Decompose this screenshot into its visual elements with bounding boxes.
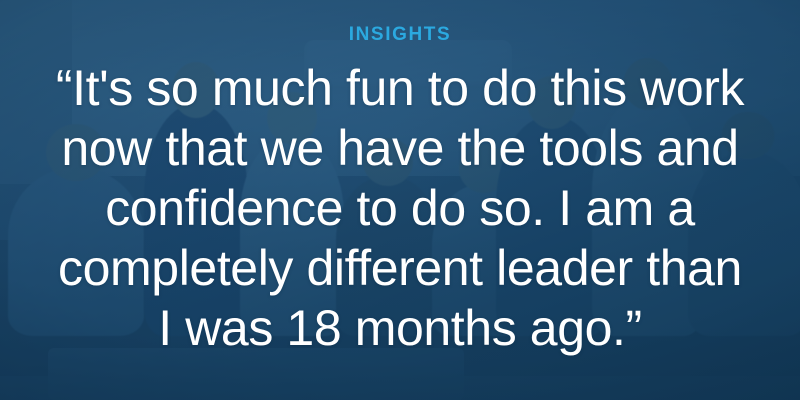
insights-quote-card: INSIGHTS “It's so much fun to do this wo… (0, 0, 800, 400)
quote-line: completely different leader than (20, 238, 780, 298)
quote-line: I was 18 months ago.” (20, 298, 780, 358)
quote-line: confidence to do so. I am a (20, 178, 780, 238)
quote-text: “It's so much fun to do this work now th… (20, 58, 780, 358)
quote-line: now that we have the tools and (20, 118, 780, 178)
card-content: INSIGHTS “It's so much fun to do this wo… (0, 0, 800, 400)
eyebrow-label: INSIGHTS (349, 25, 452, 44)
quote-line: “It's so much fun to do this work (20, 58, 780, 118)
